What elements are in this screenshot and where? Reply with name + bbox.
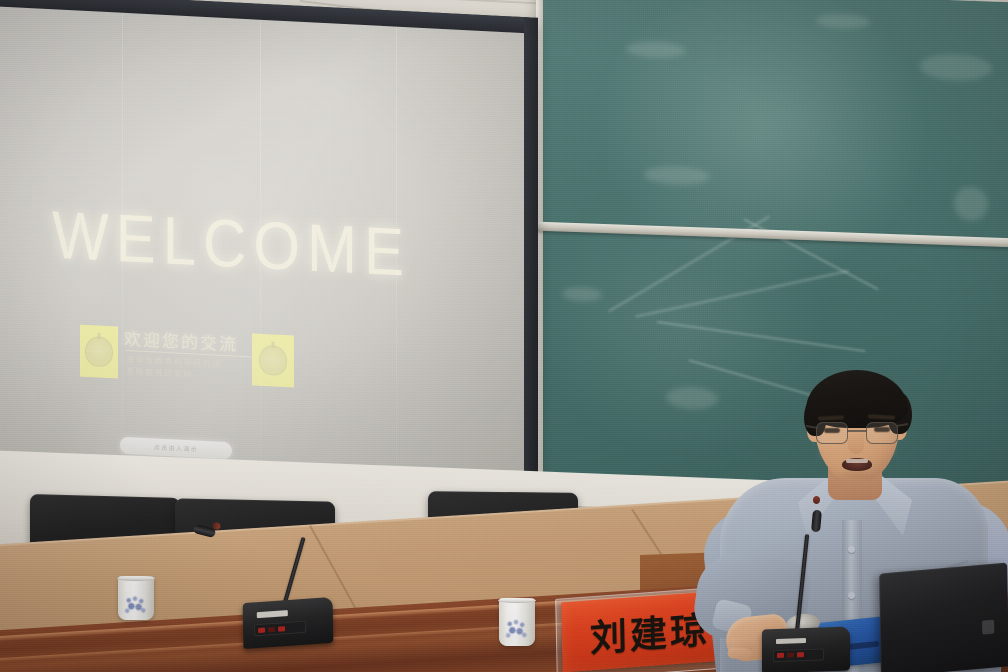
institute-seal-icon <box>80 325 118 379</box>
laptop-logo-icon <box>982 620 994 635</box>
screen-frame-right <box>524 17 538 510</box>
glasses-lens-right <box>866 422 898 444</box>
slide-enter-button-label: 点击进入演示 <box>154 442 198 453</box>
chalk-smudge <box>954 186 988 221</box>
slide-headline: WELCOME <box>52 202 411 287</box>
microphone-button-row[interactable] <box>773 648 824 661</box>
microphone-label <box>776 638 806 645</box>
slide-org-lines: 湖南省教育科学研究院 基础教育研究所 <box>126 354 256 385</box>
institute-seal-icon <box>252 333 294 387</box>
seal-glyph <box>259 345 287 376</box>
teeth <box>846 459 868 463</box>
microphone-led-icon <box>278 626 285 631</box>
welcome-slide: WELCOME 欢迎您的交流 湖南省教育科学研究院 基础教育研究所 <box>0 6 524 490</box>
paper-cup <box>118 576 154 620</box>
photo-scene: WELCOME 欢迎您的交流 湖南省教育科学研究院 基础教育研究所 <box>0 0 1008 672</box>
cup-blue-pattern <box>123 594 149 615</box>
microphone-button-row[interactable] <box>254 621 306 637</box>
nose <box>848 432 864 454</box>
projection-screen: WELCOME 欢迎您的交流 湖南省教育科学研究院 基础教育研究所 <box>0 0 538 510</box>
slide-branding: 欢迎您的交流 湖南省教育科学研究院 基础教育研究所 <box>80 323 312 397</box>
screen-fold <box>122 13 123 470</box>
microphone-led-icon <box>258 627 265 632</box>
screen-fold <box>396 27 397 484</box>
microphone-led-icon <box>787 653 794 658</box>
microphone-led-icon <box>797 652 804 657</box>
microphone-led-icon <box>268 626 275 631</box>
chin-shadow <box>834 470 882 482</box>
microphone-base[interactable] <box>243 597 334 649</box>
screen-fold <box>260 20 261 477</box>
shirt-button <box>848 592 855 599</box>
paper-cup <box>499 598 535 646</box>
finger <box>727 647 752 660</box>
shirt-button <box>848 546 855 553</box>
screen-surface: WELCOME 欢迎您的交流 湖南省教育科学研究院 基础教育研究所 <box>0 6 524 490</box>
cheek-left <box>816 444 838 462</box>
cup-blue-pattern <box>504 617 530 640</box>
microphone-led-icon <box>777 653 784 658</box>
laptop[interactable] <box>879 562 1008 672</box>
glasses-lens-left <box>816 422 848 444</box>
cheek-right <box>876 442 898 460</box>
microphone-base[interactable] <box>762 626 850 672</box>
seal-glyph <box>85 336 113 367</box>
microphone-label <box>257 610 288 618</box>
